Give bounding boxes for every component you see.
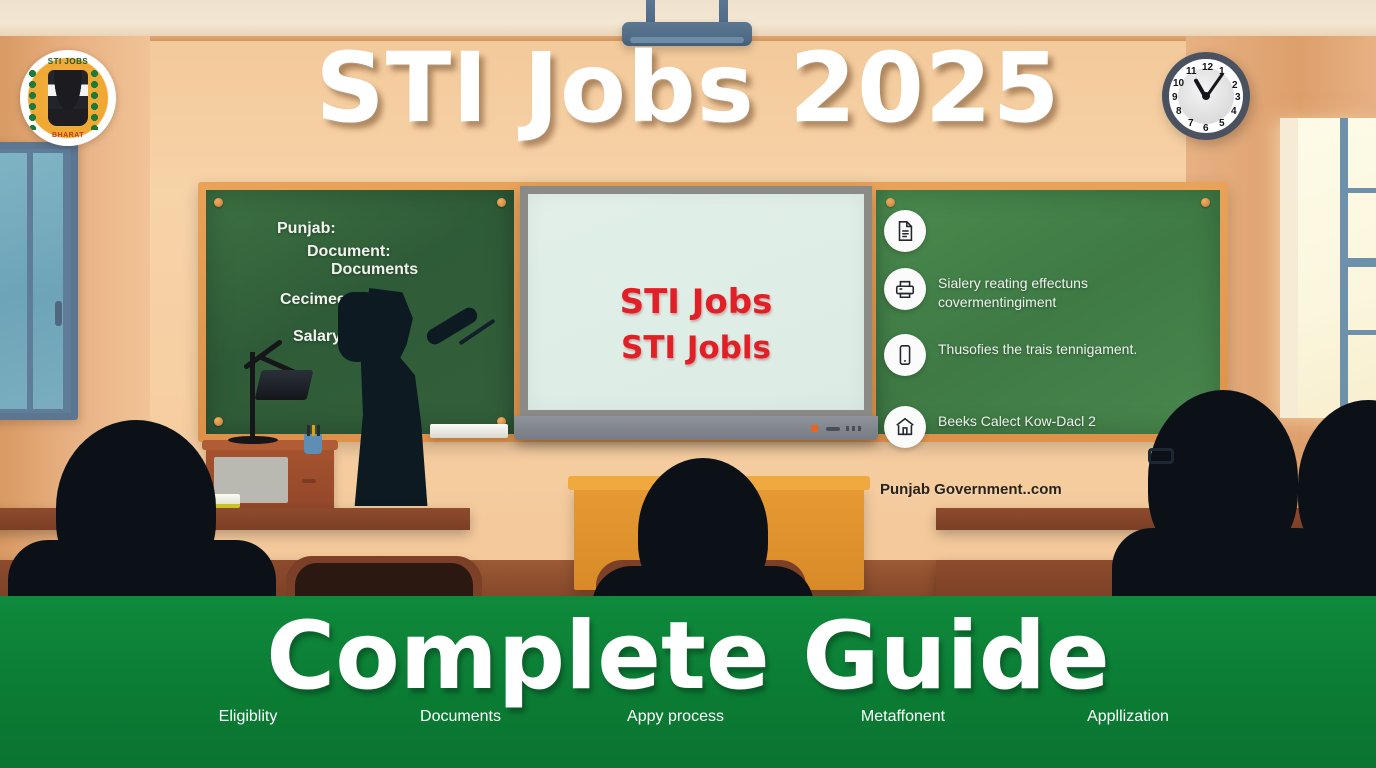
whiteboard-tray bbox=[514, 416, 878, 440]
bullet-item-document bbox=[884, 210, 938, 252]
mobile-phone-icon bbox=[884, 334, 926, 376]
pencil-icon bbox=[307, 425, 310, 436]
whiteboard-screen: STI Jobs STI Jobls bbox=[528, 194, 864, 410]
window-mullion bbox=[1340, 330, 1376, 335]
banner-headline: Complete Guide bbox=[0, 602, 1376, 711]
window-pane bbox=[0, 153, 27, 409]
bank-building-icon bbox=[884, 406, 926, 448]
bullet-text: Beeks Calect Kow-Dacl 2 bbox=[938, 406, 1096, 431]
chalk-line-document: Document: bbox=[307, 243, 391, 261]
pencil-cup bbox=[304, 434, 322, 454]
chalk-line-punjab: Punjab: bbox=[277, 220, 336, 238]
site-credit: Punjab Government..com bbox=[880, 481, 1062, 498]
drawer-handle bbox=[302, 479, 316, 483]
banner-item-application: Appllization bbox=[1023, 708, 1233, 726]
window-mullion bbox=[1340, 258, 1376, 267]
tray-control bbox=[826, 427, 840, 431]
chalk-line-documents: Documents bbox=[331, 261, 418, 279]
whiteboard-line-1: STI Jobs bbox=[528, 282, 864, 322]
bottom-banner: Complete Guide Eligiblity Documents Appy… bbox=[0, 596, 1376, 768]
pencil-icon bbox=[317, 425, 320, 436]
right-window bbox=[1280, 118, 1376, 418]
whiteboard-line-2: STI Jobls bbox=[528, 330, 864, 366]
bullet-text: Thusofies the trais tennigament. bbox=[938, 334, 1137, 359]
board-screw bbox=[214, 417, 223, 426]
window-mullion bbox=[1340, 188, 1376, 193]
banner-item-eligibility: Eligiblity bbox=[143, 708, 353, 726]
bullet-text: Sialery reating effectuns covermentingim… bbox=[938, 268, 1208, 312]
power-led-icon bbox=[811, 425, 818, 432]
page-title: STI Jobs 2025 bbox=[0, 38, 1376, 139]
eyeglasses-icon bbox=[1148, 448, 1174, 464]
board-screw bbox=[497, 198, 506, 207]
board-screw bbox=[214, 198, 223, 207]
window-mullion bbox=[1340, 118, 1348, 418]
chalk-line-salary: Salary bbox=[293, 328, 341, 346]
board-screw bbox=[1201, 198, 1210, 207]
banner-item-metaffonent: Metaffonent bbox=[783, 708, 1023, 726]
interactive-whiteboard: STI Jobs STI Jobls bbox=[520, 186, 872, 436]
bullet-item-mobile: Thusofies the trais tennigament. bbox=[884, 334, 1137, 376]
document-icon bbox=[884, 210, 926, 252]
window-handle bbox=[55, 301, 62, 326]
board-ledge-paper bbox=[430, 424, 508, 438]
banner-item-list: Eligiblity Documents Appy process Metaff… bbox=[0, 708, 1376, 726]
pencil-icon bbox=[312, 425, 315, 436]
classroom-poster: STI JOBS BHARAT 12 1 2 3 4 5 6 7 8 9 10 … bbox=[0, 0, 1376, 768]
banner-item-documents: Documents bbox=[353, 708, 568, 726]
bullet-item-bank: Beeks Calect Kow-Dacl 2 bbox=[884, 406, 1096, 448]
teacher-hair bbox=[338, 292, 372, 362]
banner-item-apply-process: Appy process bbox=[568, 708, 783, 726]
tray-control bbox=[846, 426, 862, 431]
desk-lamp-head bbox=[255, 370, 314, 400]
bullet-item-salary: Sialery reating effectuns covermentingim… bbox=[884, 268, 1208, 312]
left-window bbox=[0, 142, 78, 420]
window-pane bbox=[33, 153, 63, 409]
board-screw bbox=[886, 198, 895, 207]
printer-stack-icon bbox=[884, 268, 926, 310]
